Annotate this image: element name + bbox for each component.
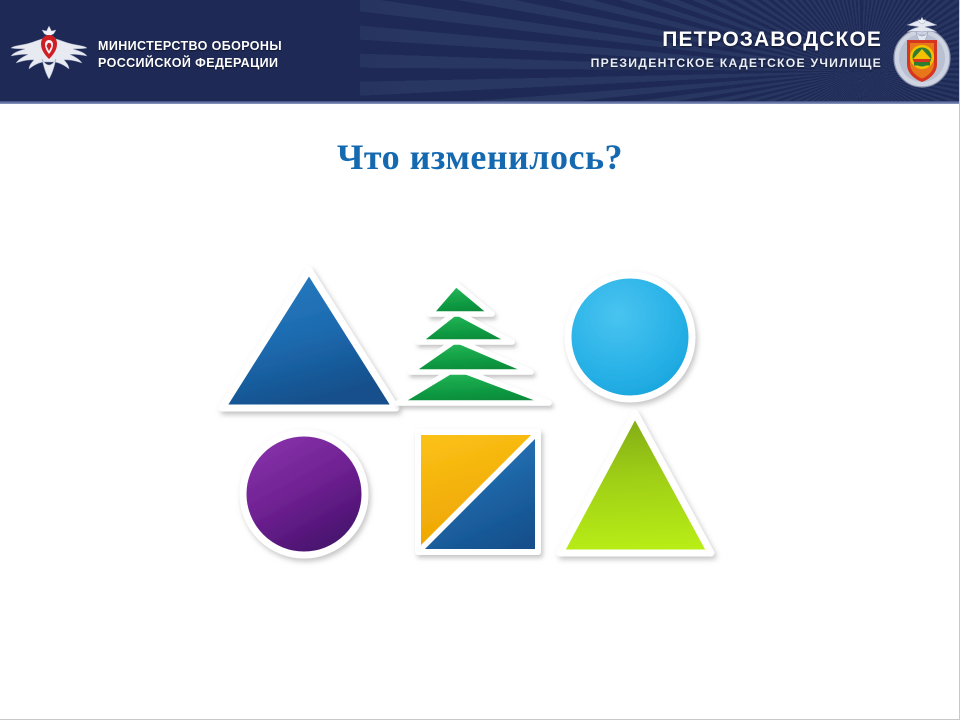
shape-split-square	[412, 426, 544, 558]
shape-lime-triangle	[556, 408, 716, 560]
shape-purple-circle	[232, 428, 384, 570]
presentation-slide: МИНИСТЕРСТВО ОБОРОНЫ РОССИЙСКОЙ ФЕДЕРАЦИ…	[0, 0, 960, 720]
shape-cyan-circle	[558, 268, 704, 410]
tree-tier-1	[430, 284, 492, 314]
shape-green-tree	[396, 272, 558, 412]
shape-blue-triangle	[218, 265, 400, 415]
shapes-illustration-area	[0, 0, 960, 720]
tree-tier-3	[410, 340, 531, 372]
